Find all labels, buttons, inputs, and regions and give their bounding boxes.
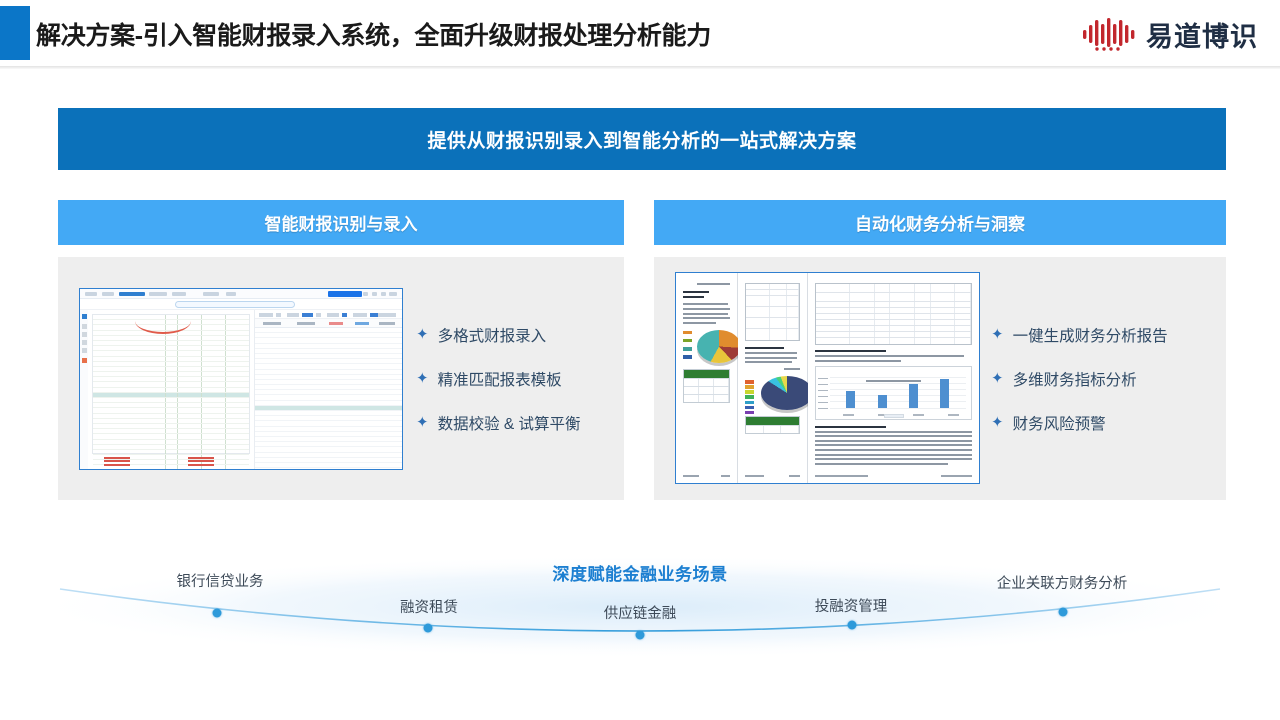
pie-chart-current-assets: [761, 376, 813, 410]
screenshot-table-controls: [255, 310, 402, 319]
pie-legend: [683, 331, 692, 363]
screenshot-subtoolbar: [80, 299, 402, 310]
column-recognition-title: 智能财报识别与录入: [265, 210, 418, 235]
report-table-2: [745, 283, 800, 341]
scene-label-2: 供应链金融: [604, 602, 677, 623]
column-analysis-body: ✦ 一健生成财务分析报告 ✦ 多维财务指标分析 ✦ 财务风险预警: [654, 257, 1226, 500]
screenshot-table-pane: [255, 310, 402, 470]
column-recognition: 智能财报识别与录入: [58, 200, 624, 500]
report-table-4: [815, 283, 972, 345]
brand-name: 易道博识: [1146, 15, 1258, 54]
list-item: ✦ 多格式财报录入: [416, 313, 581, 357]
pie-legend: [745, 380, 754, 416]
list-item-label: 财务风险预警: [1013, 412, 1106, 434]
diamond-bullet-icon: ✦: [991, 415, 1004, 430]
diamond-bullet-icon: ✦: [416, 327, 429, 342]
page-title: 解决方案-引入智能财报录入系统，全面升级财报处理分析能力: [36, 16, 711, 52]
page-footer: [745, 475, 800, 477]
column-analysis-title: 自动化财务分析与洞察: [855, 210, 1025, 235]
column-analysis-header: 自动化财务分析与洞察: [654, 200, 1226, 245]
analysis-feature-list: ✦ 一健生成财务分析报告 ✦ 多维财务指标分析 ✦ 财务风险预警: [991, 313, 1168, 445]
screenshot-toolbar: [80, 289, 402, 299]
list-item-label: 精准匹配报表模板: [438, 368, 562, 390]
scene-dot-4: [1059, 608, 1068, 617]
scene-dot-1: [424, 624, 433, 633]
report-table-1: [683, 369, 730, 403]
bar-1: [878, 395, 887, 408]
brand-logo: 易道博识: [1081, 14, 1258, 54]
scene-dot-2: [636, 631, 645, 640]
bar-2: [909, 384, 918, 408]
bar-chart-legend: [884, 414, 904, 418]
column-recognition-body: ✦ 多格式财报录入 ✦ 精准匹配报表模板 ✦ 数据校验 & 试算平衡: [58, 257, 624, 500]
screenshot-table-header: [255, 319, 402, 328]
header-divider: [0, 66, 1280, 69]
solution-banner: 提供从财报识别录入到智能分析的一站式解决方案: [58, 108, 1226, 170]
page-footer: [683, 475, 730, 477]
diamond-bullet-icon: ✦: [991, 371, 1004, 386]
list-item-label: 多维财务指标分析: [1013, 368, 1137, 390]
recognition-feature-list: ✦ 多格式财报录入 ✦ 精准匹配报表模板 ✦ 数据校验 & 试算平衡: [416, 313, 581, 445]
scene-label-3: 投融资管理: [815, 595, 888, 616]
report-page-1: [676, 273, 738, 483]
bar-3: [940, 379, 949, 408]
scene-label-0: 银行信贷业务: [177, 570, 264, 591]
scene-label-1: 融资租赁: [400, 596, 458, 617]
slide-root: 解决方案-引入智能财报录入系统，全面升级财报处理分析能力: [0, 0, 1280, 720]
red-stamp-icon: [104, 455, 130, 468]
scene-dot-0: [213, 609, 222, 618]
diamond-bullet-icon: ✦: [991, 327, 1004, 342]
diamond-bullet-icon: ✦: [416, 415, 429, 430]
diamond-bullet-icon: ✦: [416, 371, 429, 386]
list-item: ✦ 多维财务指标分析: [991, 357, 1168, 401]
list-item-label: 一健生成财务分析报告: [1013, 324, 1168, 346]
list-item: ✦ 财务风险预警: [991, 401, 1168, 445]
list-item: ✦ 精准匹配报表模板: [416, 357, 581, 401]
scene-label-4: 企业关联方财务分析: [997, 572, 1128, 593]
column-analysis: 自动化财务分析与洞察: [654, 200, 1226, 500]
solution-banner-text: 提供从财报识别录入到智能分析的一站式解决方案: [427, 126, 856, 153]
column-recognition-header: 智能财报识别与录入: [58, 200, 624, 245]
red-stamp-icon: [188, 455, 214, 468]
report-page-2: [738, 273, 808, 483]
slide-header: 解决方案-引入智能财报录入系统，全面升级财报处理分析能力: [0, 0, 1280, 68]
report-page-3: [808, 273, 979, 483]
screenshot-analysis-report: [675, 272, 980, 484]
pie-chart-asset-structure: [697, 330, 741, 363]
bar-chart-asset-trend: [815, 366, 972, 420]
list-item: ✦ 数据校验 & 试算平衡: [416, 401, 581, 445]
bar-chart-plot: [830, 377, 966, 408]
screenshot-document-pane: [80, 310, 255, 470]
list-item-label: 多格式财报录入: [438, 324, 547, 346]
bar-0: [846, 391, 855, 408]
soundwave-logo-icon: [1081, 16, 1137, 52]
list-item: ✦ 一健生成财务分析报告: [991, 313, 1168, 357]
report-table-3: [745, 416, 800, 434]
screenshot-statement-entry: [79, 288, 403, 470]
list-item-label: 数据校验 & 试算平衡: [438, 412, 581, 434]
header-accent-bar: [0, 6, 30, 60]
scene-dot-3: [848, 621, 857, 630]
page-footer: [815, 475, 972, 477]
